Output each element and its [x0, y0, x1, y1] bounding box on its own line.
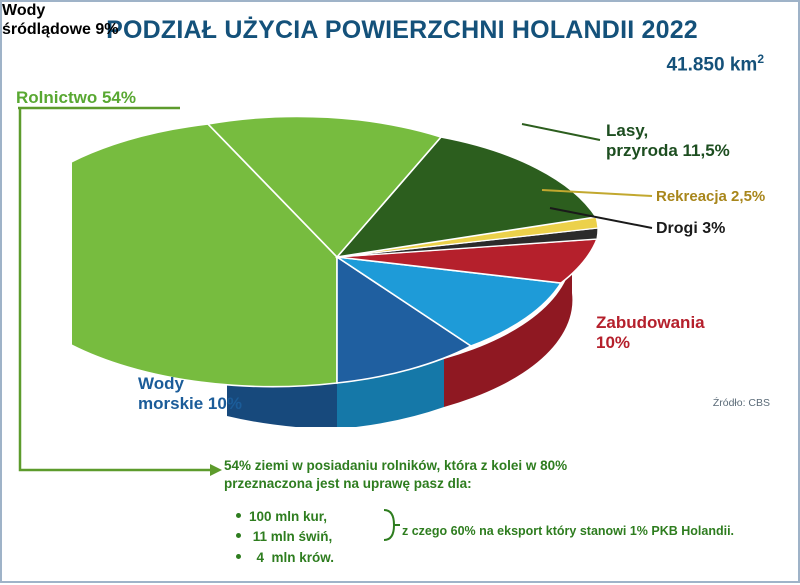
total-area-value: 41.850 km: [666, 54, 757, 75]
footnote-bullet-list: 100 mln kur, 11 mln świń, 4 mln krów.: [236, 507, 334, 568]
bullet-dot-icon: [236, 533, 241, 538]
slice-label-zabudowania: Zabudowania 10%: [596, 313, 705, 353]
bullet-brace-icon: [384, 510, 394, 540]
leader-arrowhead-icon: [210, 464, 222, 476]
list-item: 11 mln świń,: [236, 527, 334, 547]
infographic-page: PODZIAŁ UŻYCIA POWIERZCHNI HOLANDII 2022…: [0, 0, 800, 583]
footnote-block: 54% ziemi w posiadaniu rolników, która z…: [224, 457, 744, 493]
list-item-label: 11 mln świń,: [249, 529, 332, 544]
bullet-dot-icon: [236, 513, 241, 518]
area-unit-exponent: 2: [757, 52, 764, 66]
total-area-label: 41.850 km2: [666, 52, 764, 76]
list-item-label: 100 mln kur,: [249, 509, 327, 524]
page-title: PODZIAŁ UŻYCIA POWIERZCHNI HOLANDII 2022: [2, 16, 800, 45]
bullet-dot-icon: [236, 554, 241, 559]
slice-label-drogi: Drogi 3%: [656, 220, 725, 239]
list-item: 100 mln kur,: [236, 507, 334, 527]
footnote-side-text: z czego 60% na eksport który stanowi 1% …: [402, 524, 734, 538]
source-label: Źródło: CBS: [713, 397, 770, 409]
footnote-line-1: 54% ziemi w posiadaniu rolników, która z…: [224, 457, 744, 475]
slice-label-rekreacja: Rekreacja 2,5%: [656, 188, 765, 206]
slice-label-lasy: Lasy, przyroda 11,5%: [606, 121, 730, 161]
list-item: 4 mln krów.: [236, 548, 334, 568]
slice-label-wody-morskie: Wody morskie 10%: [138, 374, 242, 414]
footnote-line-2: przeznaczona jest na uprawę pasz dla:: [224, 475, 744, 493]
list-item-label: 4 mln krów.: [249, 550, 334, 565]
slice-label-wody-srodladowe: Wody śródlądowe 9%: [2, 2, 118, 40]
slice-label-rolnictwo: Rolnictwo 54%: [16, 88, 136, 108]
